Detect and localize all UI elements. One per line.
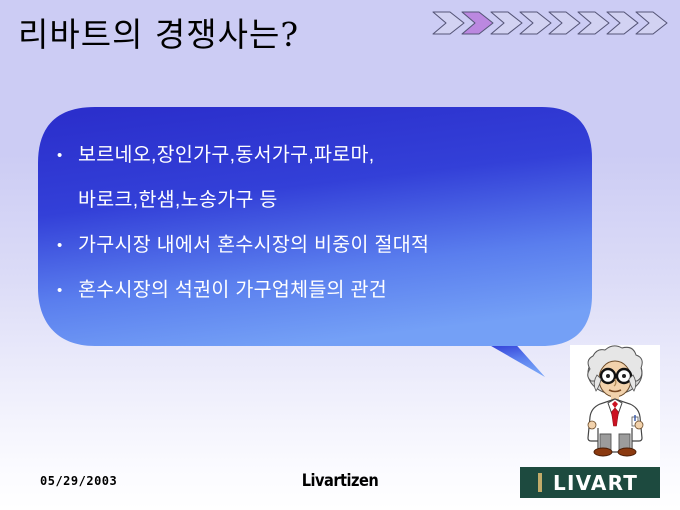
logo-text: LIVART xyxy=(553,473,638,493)
list-item: 바로크,한샘,노송가구 등 xyxy=(56,178,596,223)
logo-accent-bar xyxy=(538,473,542,492)
list-item: 보르네오,장인가구,동서가구,파로마, xyxy=(56,133,596,178)
list-item: 가구시장 내에서 혼수시장의 비중이 절대적 xyxy=(56,223,596,268)
page-title: 리바트의 경쟁사는? xyxy=(18,8,299,56)
einstein-scientist-image xyxy=(570,345,660,460)
list-item: 혼수시장의 석권이 가구업체들의 관건 xyxy=(56,268,596,313)
chevron-icon xyxy=(635,10,669,36)
slide-canvas: 리바트의 경쟁사는? 보르네오,장인가구,동서가구,파로마, 바로크,한샘,노송… xyxy=(0,0,680,510)
bubble-text-block: 보르네오,장인가구,동서가구,파로마, 바로크,한샘,노송가구 등 가구시장 내… xyxy=(56,133,596,313)
livart-logo: LIVART xyxy=(520,467,660,498)
progress-chevron-strip xyxy=(432,10,668,36)
